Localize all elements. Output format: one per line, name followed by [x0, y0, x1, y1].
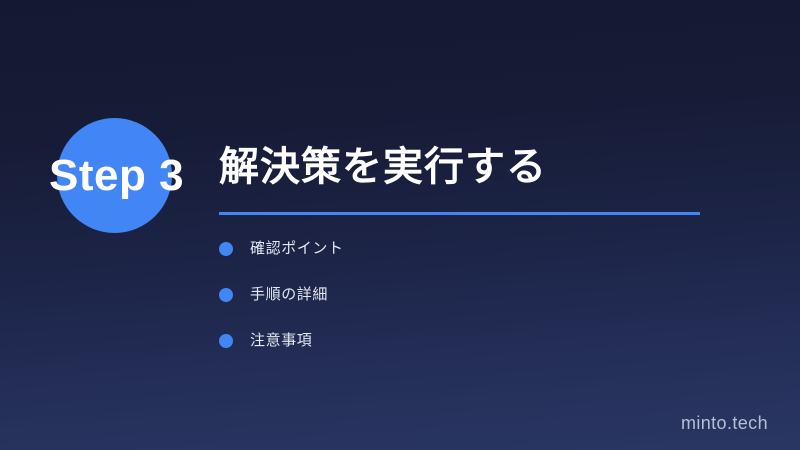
list-item-label: 注意事項: [250, 331, 312, 351]
list-item: 注意事項: [219, 326, 689, 356]
list-item: 手順の詳細: [219, 280, 689, 310]
bullet-list: 確認ポイント 手順の詳細 注意事項: [219, 234, 689, 356]
page-title: 解決策を実行する: [219, 140, 547, 194]
bullet-dot-icon: [219, 242, 233, 256]
list-item-label: 手順の詳細: [250, 285, 328, 305]
step-badge-label: Step 3: [49, 148, 209, 204]
slide-canvas: Step 3 解決策を実行する 確認ポイント 手順の詳細 注意事項 minto.…: [0, 0, 800, 450]
watermark: minto.tech: [681, 413, 768, 434]
list-item: 確認ポイント: [219, 234, 689, 264]
bullet-dot-icon: [219, 334, 233, 348]
bullet-dot-icon: [219, 288, 233, 302]
title-divider: [219, 212, 700, 215]
list-item-label: 確認ポイント: [250, 239, 344, 259]
